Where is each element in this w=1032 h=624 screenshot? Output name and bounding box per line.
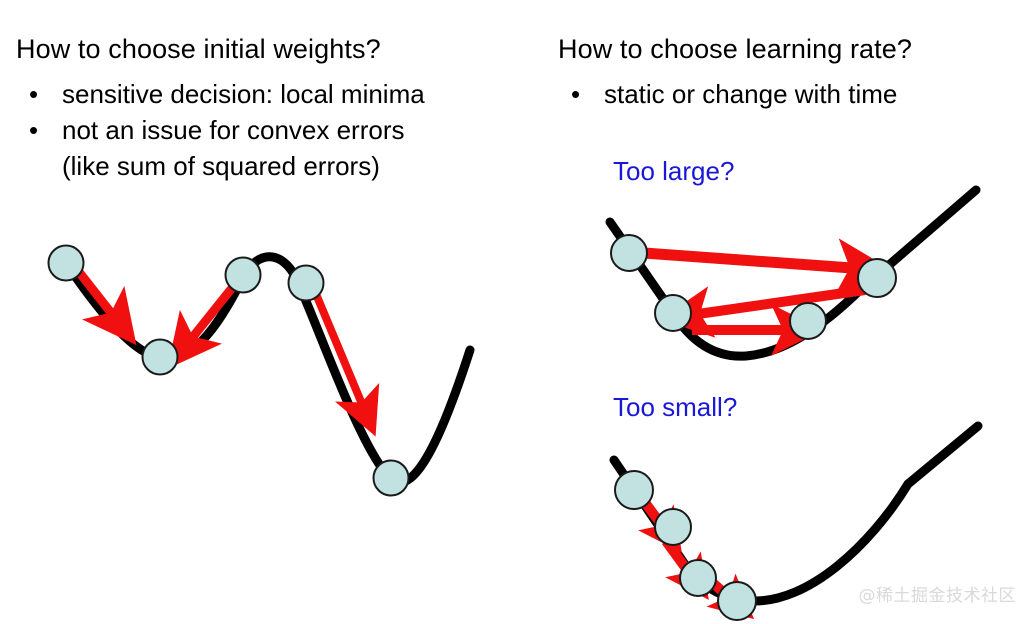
ball-too-large-2 xyxy=(858,259,896,297)
left-column: How to choose initial weights? • sensiti… xyxy=(0,0,540,624)
ball-position-4 xyxy=(289,266,324,301)
learning-rate-figures xyxy=(540,0,1032,624)
error-curve xyxy=(62,257,470,483)
right-column: How to choose learning rate? • static or… xyxy=(540,0,1032,624)
slide-canvas: How to choose initial weights? • sensiti… xyxy=(0,0,1032,624)
non-convex-error-surface-figure xyxy=(0,0,540,624)
ball-too-small-4 xyxy=(718,582,756,620)
ball-too-small-2 xyxy=(655,509,691,545)
watermark: @稀土掘金技术社区 xyxy=(859,581,1017,606)
too-small-balls xyxy=(615,471,756,620)
ball-too-large-3 xyxy=(655,295,691,331)
ball-position-3 xyxy=(226,258,261,293)
ball-too-small-3 xyxy=(680,560,716,596)
ball-position-2 xyxy=(143,340,178,375)
too-large-figure xyxy=(610,190,976,356)
ball-position-5 xyxy=(374,461,409,496)
ball-too-large-1 xyxy=(611,235,647,271)
ball-position-1 xyxy=(49,246,84,281)
ball-too-large-4 xyxy=(790,303,826,339)
ball-too-small-1 xyxy=(615,471,653,509)
arrow-overshoot-1 xyxy=(644,253,852,268)
descent-balls xyxy=(49,246,409,496)
